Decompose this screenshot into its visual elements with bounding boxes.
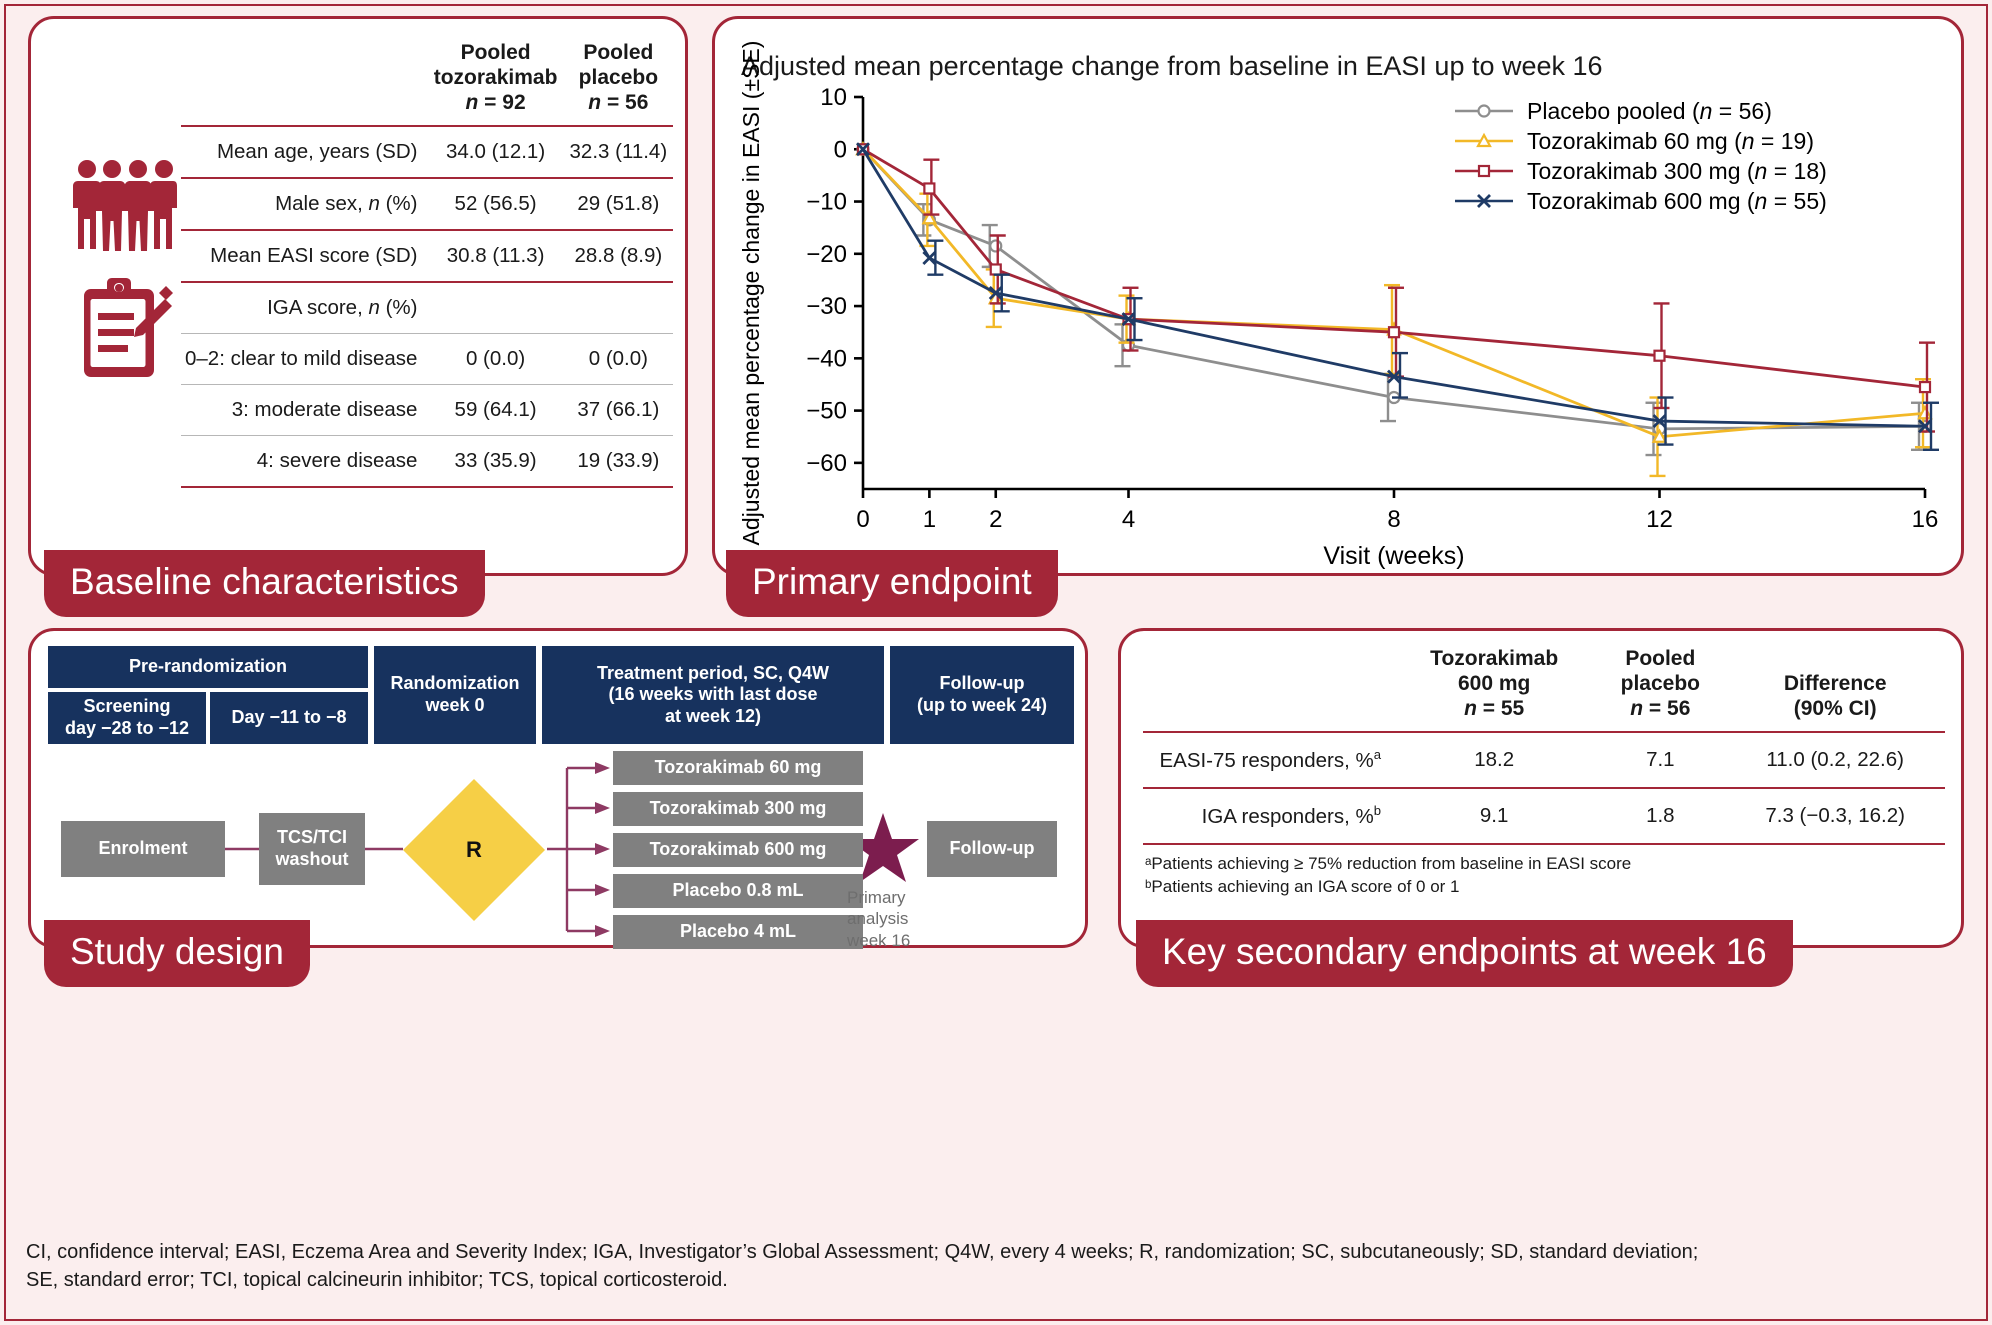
header-line2: 600 mg [1458,672,1530,695]
panel-primary-endpoint: Adjusted mean percentage change from bas… [712,16,1964,576]
cell-tozorakimab: 34.0 (12.1) [427,126,563,178]
marker-square [1389,327,1399,337]
cell-tozorakimab [427,282,563,334]
row-label: 0–2: clear to mild disease [181,334,427,385]
cell-tozorakimab-600: 18.2 [1393,732,1595,788]
marker-triangle [1478,135,1490,146]
legend-item-2: Tozorakimab 300 mg (n = 18) [1455,158,1827,184]
cell-tozorakimab-600: 9.1 [1393,788,1595,844]
panel-key-secondary-endpoints: Tozorakimab 600 mg n = 55 Pooled placebo… [1118,628,1964,948]
study-phases-banner: Pre-randomization Screening day −28 to −… [47,645,1075,745]
cell-difference: 7.3 (−0.3, 16.2) [1725,788,1945,844]
header-blank [1143,647,1393,732]
legend-label: Placebo pooled (n = 56) [1527,98,1772,124]
legend-item-1: Tozorakimab 60 mg (n = 19) [1455,128,1814,154]
marker-square [1479,166,1489,176]
header-n: n = 55 [1464,697,1524,720]
y-tick-label: −20 [806,241,847,268]
legend-label: Tozorakimab 60 mg (n = 19) [1527,128,1814,154]
header-pooled-tozorakimab: Pooled tozorakimab n = 92 [427,41,563,126]
table-header-row: Pooled tozorakimab n = 92 Pooled placebo… [181,41,673,126]
tab-primary-endpoint: Primary endpoint [726,550,1058,617]
y-tick-label: 10 [820,84,847,111]
table-header-row: Tozorakimab 600 mg n = 55 Pooled placebo… [1143,647,1945,732]
header-tozorakimab-600: Tozorakimab 600 mg n = 55 [1393,647,1595,732]
y-axis-label: Adjusted mean percentage change in EASI … [738,41,764,546]
phase-screening: Screening day −28 to −12 [47,691,207,745]
footnote-b: ᵇPatients achieving an IGA score of 0 or… [1145,876,1631,899]
flow-enrolment: Enrolment [61,821,225,877]
x-tick-label: 2 [989,506,1002,533]
cell-tozorakimab: 0 (0.0) [427,334,563,385]
cell-placebo: 28.8 (8.9) [564,230,673,282]
y-tick-label: −40 [806,345,847,372]
x-tick-label: 1 [923,506,936,533]
header-line1: Difference [1784,672,1887,695]
table-row: 3: moderate disease59 (64.1)37 (66.1) [181,385,673,436]
x-tick-label: 4 [1122,506,1135,533]
abbreviations-line-1: CI, confidence interval; EASI, Eczema Ar… [26,1238,1966,1266]
table-row: IGA score, n (%) [181,282,673,334]
marker-square [924,183,934,193]
row-label: 3: moderate disease [181,385,427,436]
key-table-footnotes: ᵃPatients achieving ≥ 75% reduction from… [1145,853,1631,899]
legend-label: Tozorakimab 300 mg (n = 18) [1527,158,1827,184]
cell-tozorakimab: 30.8 (11.3) [427,230,563,282]
header-line2: tozorakimab [434,66,558,89]
panel-baseline-characteristics: Pooled tozorakimab n = 92 Pooled placebo… [28,16,688,576]
cell-placebo: 29 (51.8) [564,178,673,230]
marker-square [991,264,1001,274]
row-label: IGA score, n (%) [181,282,427,334]
table-row: IGA responders, %b9.11.87.3 (−0.3, 16.2) [1143,788,1945,844]
phase-randomization: Randomization week 0 [373,645,537,745]
marker-cross [923,252,935,264]
table-row: 0–2: clear to mild disease0 (0.0)0 (0.0) [181,334,673,385]
key-secondary-endpoints-table: Tozorakimab 600 mg n = 55 Pooled placebo… [1143,647,1945,845]
table-row: 4: severe disease33 (35.9)19 (33.9) [181,436,673,488]
header-n: n = 56 [1630,697,1690,720]
header-line1: Tozorakimab [1430,647,1558,670]
flow-followup: Follow-up [927,821,1057,877]
flow-arm-placebo-08: Placebo 0.8 mL [613,874,863,908]
cell-placebo: 0 (0.0) [564,334,673,385]
row-label: Mean EASI score (SD) [181,230,427,282]
row-label: 4: severe disease [181,436,427,488]
primary-analysis-note: Primary analysis week 16 [847,887,937,951]
marker-circle [990,240,1001,251]
header-line1: Pooled [583,41,653,64]
cell-tozorakimab: 59 (64.1) [427,385,563,436]
phase-day-range: Day −11 to −8 [209,691,369,745]
x-tick-label: 16 [1912,506,1939,533]
easi-change-line-chart: 100−10−20−30−40−50−60012481216Visit (wee… [715,19,1967,579]
header-pooled-placebo: Pooled placebo n = 56 [1595,647,1725,732]
header-n: n = 92 [466,91,526,114]
flow-arm-toz-300: Tozorakimab 300 mg [613,792,863,826]
flow-arm-placebo-4: Placebo 4 mL [613,915,863,949]
header-line2: placebo [579,66,658,89]
footnote-a: ᵃPatients achieving ≥ 75% reduction from… [1145,853,1631,876]
series-line [863,149,1925,387]
marker-square [1920,382,1930,392]
clipboard-pencil-icon [81,277,173,377]
table-row: Mean age, years (SD)34.0 (12.1)32.3 (11.… [181,126,673,178]
abbreviations-footer: CI, confidence interval; EASI, Eczema Ar… [26,1238,1966,1295]
abbreviations-line-2: SE, standard error; TCI, topical calcine… [26,1266,1966,1294]
table-row: EASI-75 responders, %a18.27.111.0 (0.2, … [1143,732,1945,788]
y-tick-label: −30 [806,293,847,320]
panel-study-design: Pre-randomization Screening day −28 to −… [28,628,1088,948]
cell-placebo [564,282,673,334]
flow-washout: TCS/TCI washout [259,813,365,885]
row-label: IGA responders, %b [1143,788,1393,844]
tab-key-secondary-endpoints: Key secondary endpoints at week 16 [1136,920,1793,987]
y-tick-label: −50 [806,398,847,425]
tab-study-design: Study design [44,920,310,987]
header-pooled-placebo: Pooled placebo n = 56 [564,41,673,126]
legend-label: Tozorakimab 600 mg (n = 55) [1527,188,1827,214]
row-label: Mean age, years (SD) [181,126,427,178]
table-row: Mean EASI score (SD)30.8 (11.3)28.8 (8.9… [181,230,673,282]
flow-arm-toz-600: Tozorakimab 600 mg [613,833,863,867]
row-label: EASI-75 responders, %a [1143,732,1393,788]
x-tick-label: 0 [856,506,869,533]
y-tick-label: −10 [806,189,847,216]
header-n: n = 56 [588,91,648,114]
flow-arm-toz-60: Tozorakimab 60 mg [613,751,863,785]
row-label: Male sex, n (%) [181,178,427,230]
header-line1: Pooled [1625,647,1695,670]
y-tick-label: 0 [834,136,847,163]
legend-item-3: Tozorakimab 600 mg (n = 55) [1455,188,1827,214]
y-tick-label: −60 [806,450,847,477]
phase-followup: Follow-up (up to week 24) [889,645,1075,745]
cell-pooled-placebo: 7.1 [1595,732,1725,788]
table-row: Male sex, n (%)52 (56.5)29 (51.8) [181,178,673,230]
cell-placebo: 19 (33.9) [564,436,673,488]
tab-baseline-characteristics: Baseline characteristics [44,550,485,617]
x-tick-label: 8 [1387,506,1400,533]
people-group-icon [73,159,177,251]
marker-circle [1123,340,1134,351]
x-axis-label: Visit (weeks) [1323,542,1464,570]
cell-difference: 11.0 (0.2, 22.6) [1725,732,1945,788]
marker-square [1655,351,1665,361]
baseline-characteristics-table: Pooled tozorakimab n = 92 Pooled placebo… [181,41,673,488]
legend-item-0: Placebo pooled (n = 56) [1455,98,1772,124]
marker-circle [1479,106,1490,117]
header-line2: placebo [1621,672,1700,695]
header-blank [181,41,427,126]
header-line2: (90% CI) [1794,697,1877,720]
cell-pooled-placebo: 1.8 [1595,788,1725,844]
x-tick-label: 12 [1646,506,1673,533]
marker-triangle [1919,407,1931,418]
cell-tozorakimab: 52 (56.5) [427,178,563,230]
header-line1: Pooled [461,41,531,64]
cell-placebo: 37 (66.1) [564,385,673,436]
phase-pre-randomization: Pre-randomization [47,645,369,689]
header-difference: Difference (90% CI) [1725,647,1945,732]
cell-placebo: 32.3 (11.4) [564,126,673,178]
phase-treatment-period: Treatment period, SC, Q4W (16 weeks with… [541,645,885,745]
study-flow-diagram: Enrolment TCS/TCI washout R Tozorakimab … [47,751,1075,946]
cell-tozorakimab: 33 (35.9) [427,436,563,488]
